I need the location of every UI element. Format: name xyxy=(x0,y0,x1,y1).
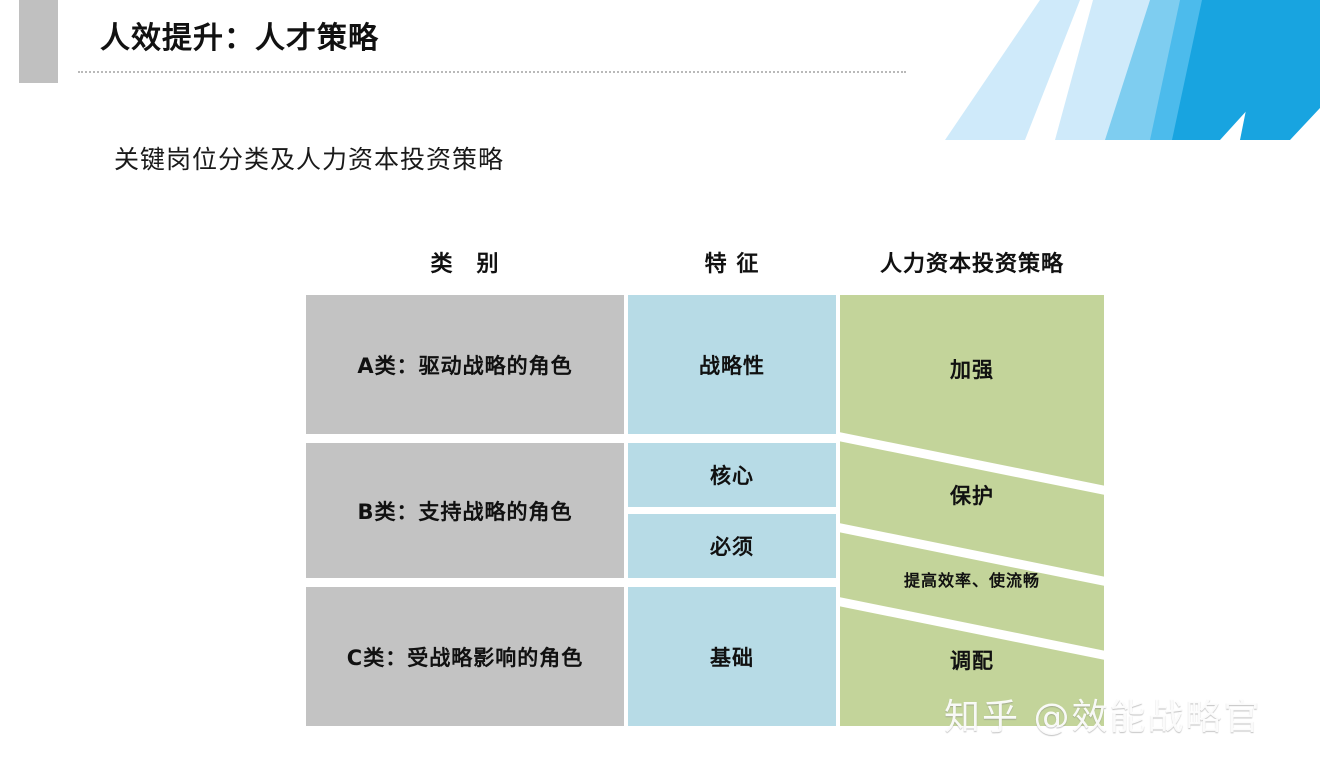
category-cell-b: B类：支持战略的角色 xyxy=(306,443,624,578)
column-header-trait: 特 征 xyxy=(628,246,836,278)
strategy-label-strengthen: 加强 xyxy=(840,354,1104,384)
trait-cell-foundational: 基础 xyxy=(628,587,836,726)
column-header-strategy: 人力资本投资策略 xyxy=(840,246,1104,278)
category-cell-a: A类：驱动战略的角色 xyxy=(306,295,624,434)
trait-cell-strategic: 战略性 xyxy=(628,295,836,434)
strategy-column: 加强 保护 提高效率、使流畅 调配 xyxy=(840,295,1104,726)
trait-cell-required: 必须 xyxy=(628,514,836,578)
strategy-label-protect: 保护 xyxy=(840,480,1104,510)
strategy-label-efficiency: 提高效率、使流畅 xyxy=(840,567,1104,591)
column-header-category: 类 别 xyxy=(306,246,624,278)
talent-strategy-matrix: 类 别 特 征 人力资本投资策略 A类：驱动战略的角色 B类：支持战略的角色 C… xyxy=(0,0,1320,766)
strategy-label-redeploy: 调配 xyxy=(840,645,1104,675)
category-cell-c: C类：受战略影响的角色 xyxy=(306,587,624,726)
trait-cell-core: 核心 xyxy=(628,443,836,507)
